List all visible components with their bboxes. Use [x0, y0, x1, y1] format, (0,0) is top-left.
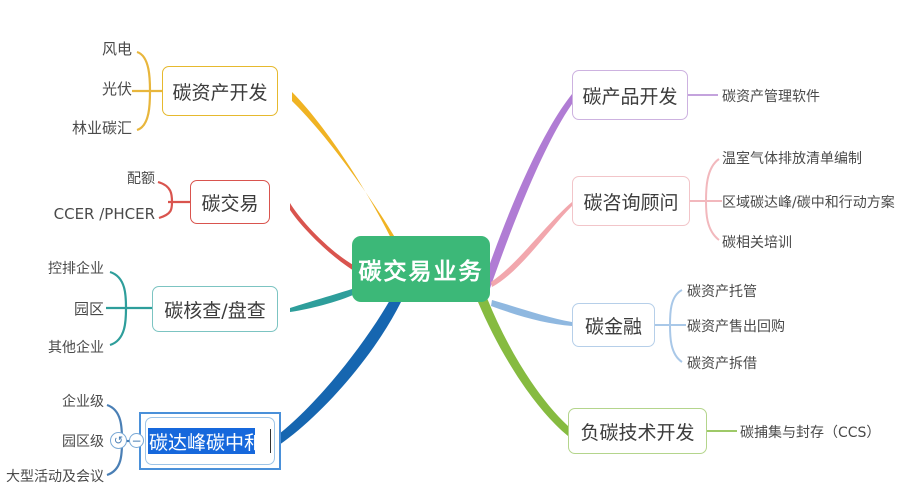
text-caret	[270, 429, 271, 453]
leaf-label: 碳资产拆借	[687, 356, 757, 372]
leaf-carbon-related-training[interactable]: 碳相关培训	[722, 232, 792, 252]
leaf-label: 温室气体排放清单编制	[722, 151, 862, 167]
node-label: 碳交易	[201, 189, 258, 216]
edge-group-carbon-consulting	[690, 159, 722, 240]
leaf-carbon-asset-lending[interactable]: 碳资产拆借	[687, 353, 757, 373]
node-label: 碳资产开发	[172, 78, 267, 105]
node-label: 碳咨询顾问	[583, 188, 678, 215]
leaf-forestry-carbon-sink[interactable]: 林业碳汇	[0, 117, 132, 138]
node-label: 碳核查/盘查	[164, 296, 265, 323]
leaf-label: 碳资产托管	[687, 284, 757, 300]
leaf-label: 碳相关培训	[722, 235, 792, 251]
leaf-label: 其他企业	[48, 340, 104, 356]
edge-group-carbon-finance	[655, 290, 686, 362]
leaf-ccer-phcer[interactable]: CCER /PHCER	[0, 205, 155, 223]
node-label: 负碳技术开发	[580, 418, 694, 445]
leaf-label: 园区级	[62, 434, 104, 450]
leaf-label: 园区	[74, 300, 104, 318]
leaf-label: 林业碳汇	[72, 119, 132, 137]
leaf-label: 配额	[127, 171, 155, 187]
leaf-label: 碳资产售出回购	[687, 319, 785, 335]
minus-circle-icon[interactable]: −	[129, 433, 144, 448]
node-negative-carbon-technology[interactable]: 负碳技术开发	[568, 408, 707, 454]
selected-node-label: 碳达峰碳中和	[149, 428, 263, 455]
leaf-carbon-asset-sale-repurchase[interactable]: 碳资产售出回购	[687, 316, 785, 336]
node-carbon-asset-development[interactable]: 碳资产开发	[162, 66, 278, 116]
leaf-label: 控排企业	[48, 261, 104, 277]
node-label: 碳金融	[585, 312, 642, 339]
leaf-quota[interactable]: 配额	[0, 168, 155, 188]
edge-group-carbon-verification	[106, 272, 152, 345]
mindmap-canvas: 碳交易业务 碳资产开发 碳交易 碳核查/盘查 碳达峰碳中和 ↺ − 碳产品开发 …	[0, 0, 900, 489]
edge-center-to-carbon-product	[478, 94, 572, 300]
leaf-carbon-asset-management-software[interactable]: 碳资产管理软件	[722, 86, 820, 106]
leaf-label: 企业级	[62, 394, 104, 410]
leaf-ghg-emission-inventory[interactable]: 温室气体排放清单编制	[722, 148, 862, 168]
leaf-other-enterprises[interactable]: 其他企业	[0, 337, 104, 357]
leaf-label: 光伏	[102, 80, 132, 98]
edge-center-to-carbon-trading	[290, 203, 356, 272]
node-carbon-verification[interactable]: 碳核查/盘查	[152, 286, 278, 332]
leaf-photovoltaic[interactable]: 光伏	[0, 78, 132, 99]
edge-center-to-carbon-finance	[491, 300, 572, 326]
node-carbon-consulting[interactable]: 碳咨询顾问	[572, 176, 690, 226]
leaf-label: 碳捕集与封存（CCS）	[740, 425, 880, 441]
leaf-carbon-asset-custody[interactable]: 碳资产托管	[687, 281, 757, 301]
leaf-label: 碳资产管理软件	[722, 89, 820, 105]
collapse-circle-icon[interactable]: ↺	[110, 432, 127, 449]
leaf-label: CCER /PHCER	[54, 205, 155, 223]
leaf-wind-power[interactable]: 风电	[0, 38, 132, 59]
edge-center-to-carbon-peak	[270, 300, 401, 451]
center-node[interactable]: 碳交易业务	[352, 236, 490, 302]
leaf-label: 区域碳达峰/碳中和行动方案	[722, 195, 895, 211]
leaf-carbon-capture-and-storage[interactable]: 碳捕集与封存（CCS）	[740, 422, 880, 442]
leaf-enterprise-level[interactable]: 企业级	[0, 391, 104, 411]
leaf-regional-carbon-peak-action-plan[interactable]: 区域碳达峰/碳中和行动方案	[722, 192, 895, 212]
edge-group-carbon-asset-development	[132, 52, 162, 130]
node-carbon-finance[interactable]: 碳金融	[572, 303, 655, 347]
leaf-park-level[interactable]: 园区级	[0, 431, 104, 451]
leaf-label: 大型活动及会议	[6, 469, 104, 485]
leaf-industrial-park[interactable]: 园区	[0, 298, 104, 319]
center-node-label: 碳交易业务	[359, 252, 484, 286]
node-label: 碳产品开发	[582, 82, 677, 109]
node-carbon-trading[interactable]: 碳交易	[190, 180, 270, 224]
leaf-large-events-and-conferences[interactable]: 大型活动及会议	[0, 466, 104, 486]
node-carbon-product-development[interactable]: 碳产品开发	[572, 70, 688, 120]
leaf-controlled-enterprises[interactable]: 控排企业	[0, 258, 104, 278]
edge-group-carbon-trading	[158, 182, 190, 218]
leaf-label: 风电	[102, 40, 132, 58]
selected-node-text[interactable]: 碳达峰碳中和	[148, 428, 255, 454]
edge-center-to-carbon-verification	[290, 289, 353, 312]
